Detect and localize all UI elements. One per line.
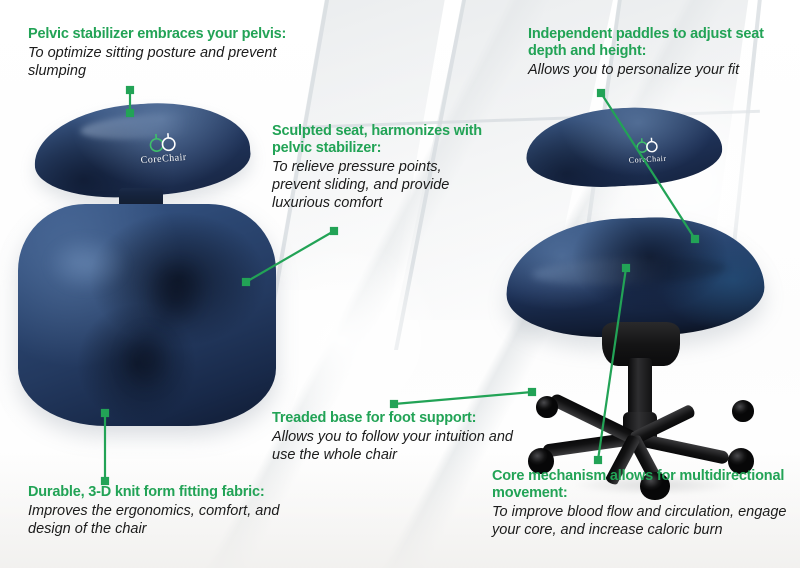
- chair-three-quarter-view: CoreChair: [500, 100, 800, 490]
- chair-front-view: CoreChair: [18, 104, 288, 434]
- callout-body: To optimize sitting posture and prevent …: [28, 44, 318, 80]
- callout-pelvic-stabilizer: Pelvic stabilizer embraces your pelvis: …: [28, 26, 318, 80]
- pelvic-stabilizer-backrest: CoreChair: [524, 103, 724, 191]
- caster-wheel: [732, 400, 754, 422]
- callout-core-mechanism: Core mechanism allows for multidirection…: [492, 468, 792, 539]
- callout-title: Pelvic stabilizer embraces your pelvis:: [28, 26, 318, 43]
- callout-treaded-base: Treaded base for foot support: Allows yo…: [272, 410, 527, 464]
- callout-body: Allows you to follow your intuition and …: [272, 428, 527, 464]
- corechair-logo-mark: [146, 131, 179, 153]
- callout-title: Sculpted seat, harmonizes with pelvic st…: [272, 123, 487, 157]
- seat-highlight: [33, 226, 141, 301]
- seat-contour-ridge: [531, 255, 728, 288]
- corechair-logo: CoreChair: [592, 134, 703, 167]
- infographic-canvas: CoreChair CoreChair: [0, 0, 800, 568]
- callout-independent-paddles: Independent paddles to adjust seat depth…: [528, 26, 778, 79]
- callout-knit-fabric: Durable, 3-D knit form fitting fabric: I…: [28, 484, 290, 538]
- corechair-logo-wordmark: CoreChair: [593, 152, 703, 167]
- callout-body: Improves the ergonomics, comfort, and de…: [28, 502, 290, 538]
- callout-title: Independent paddles to adjust seat depth…: [528, 26, 778, 60]
- corechair-logo: CoreChair: [107, 129, 219, 169]
- callout-sculpted-seat: Sculpted seat, harmonizes with pelvic st…: [272, 123, 487, 212]
- callout-body: Allows you to personalize your fit: [528, 61, 778, 79]
- seat-contour-shadow: [111, 315, 183, 404]
- sculpted-seat-cushion: [18, 204, 276, 426]
- caster-wheel: [536, 396, 558, 418]
- callout-body: To improve blood flow and circulation, e…: [492, 503, 792, 539]
- callout-title: Treaded base for foot support:: [272, 410, 527, 427]
- callout-title: Core mechanism allows for multidirection…: [492, 468, 792, 502]
- callout-title: Durable, 3-D knit form fitting fabric:: [28, 484, 290, 501]
- corechair-logo-mark: [634, 136, 661, 154]
- callout-body: To relieve pressure points, prevent slid…: [272, 158, 487, 212]
